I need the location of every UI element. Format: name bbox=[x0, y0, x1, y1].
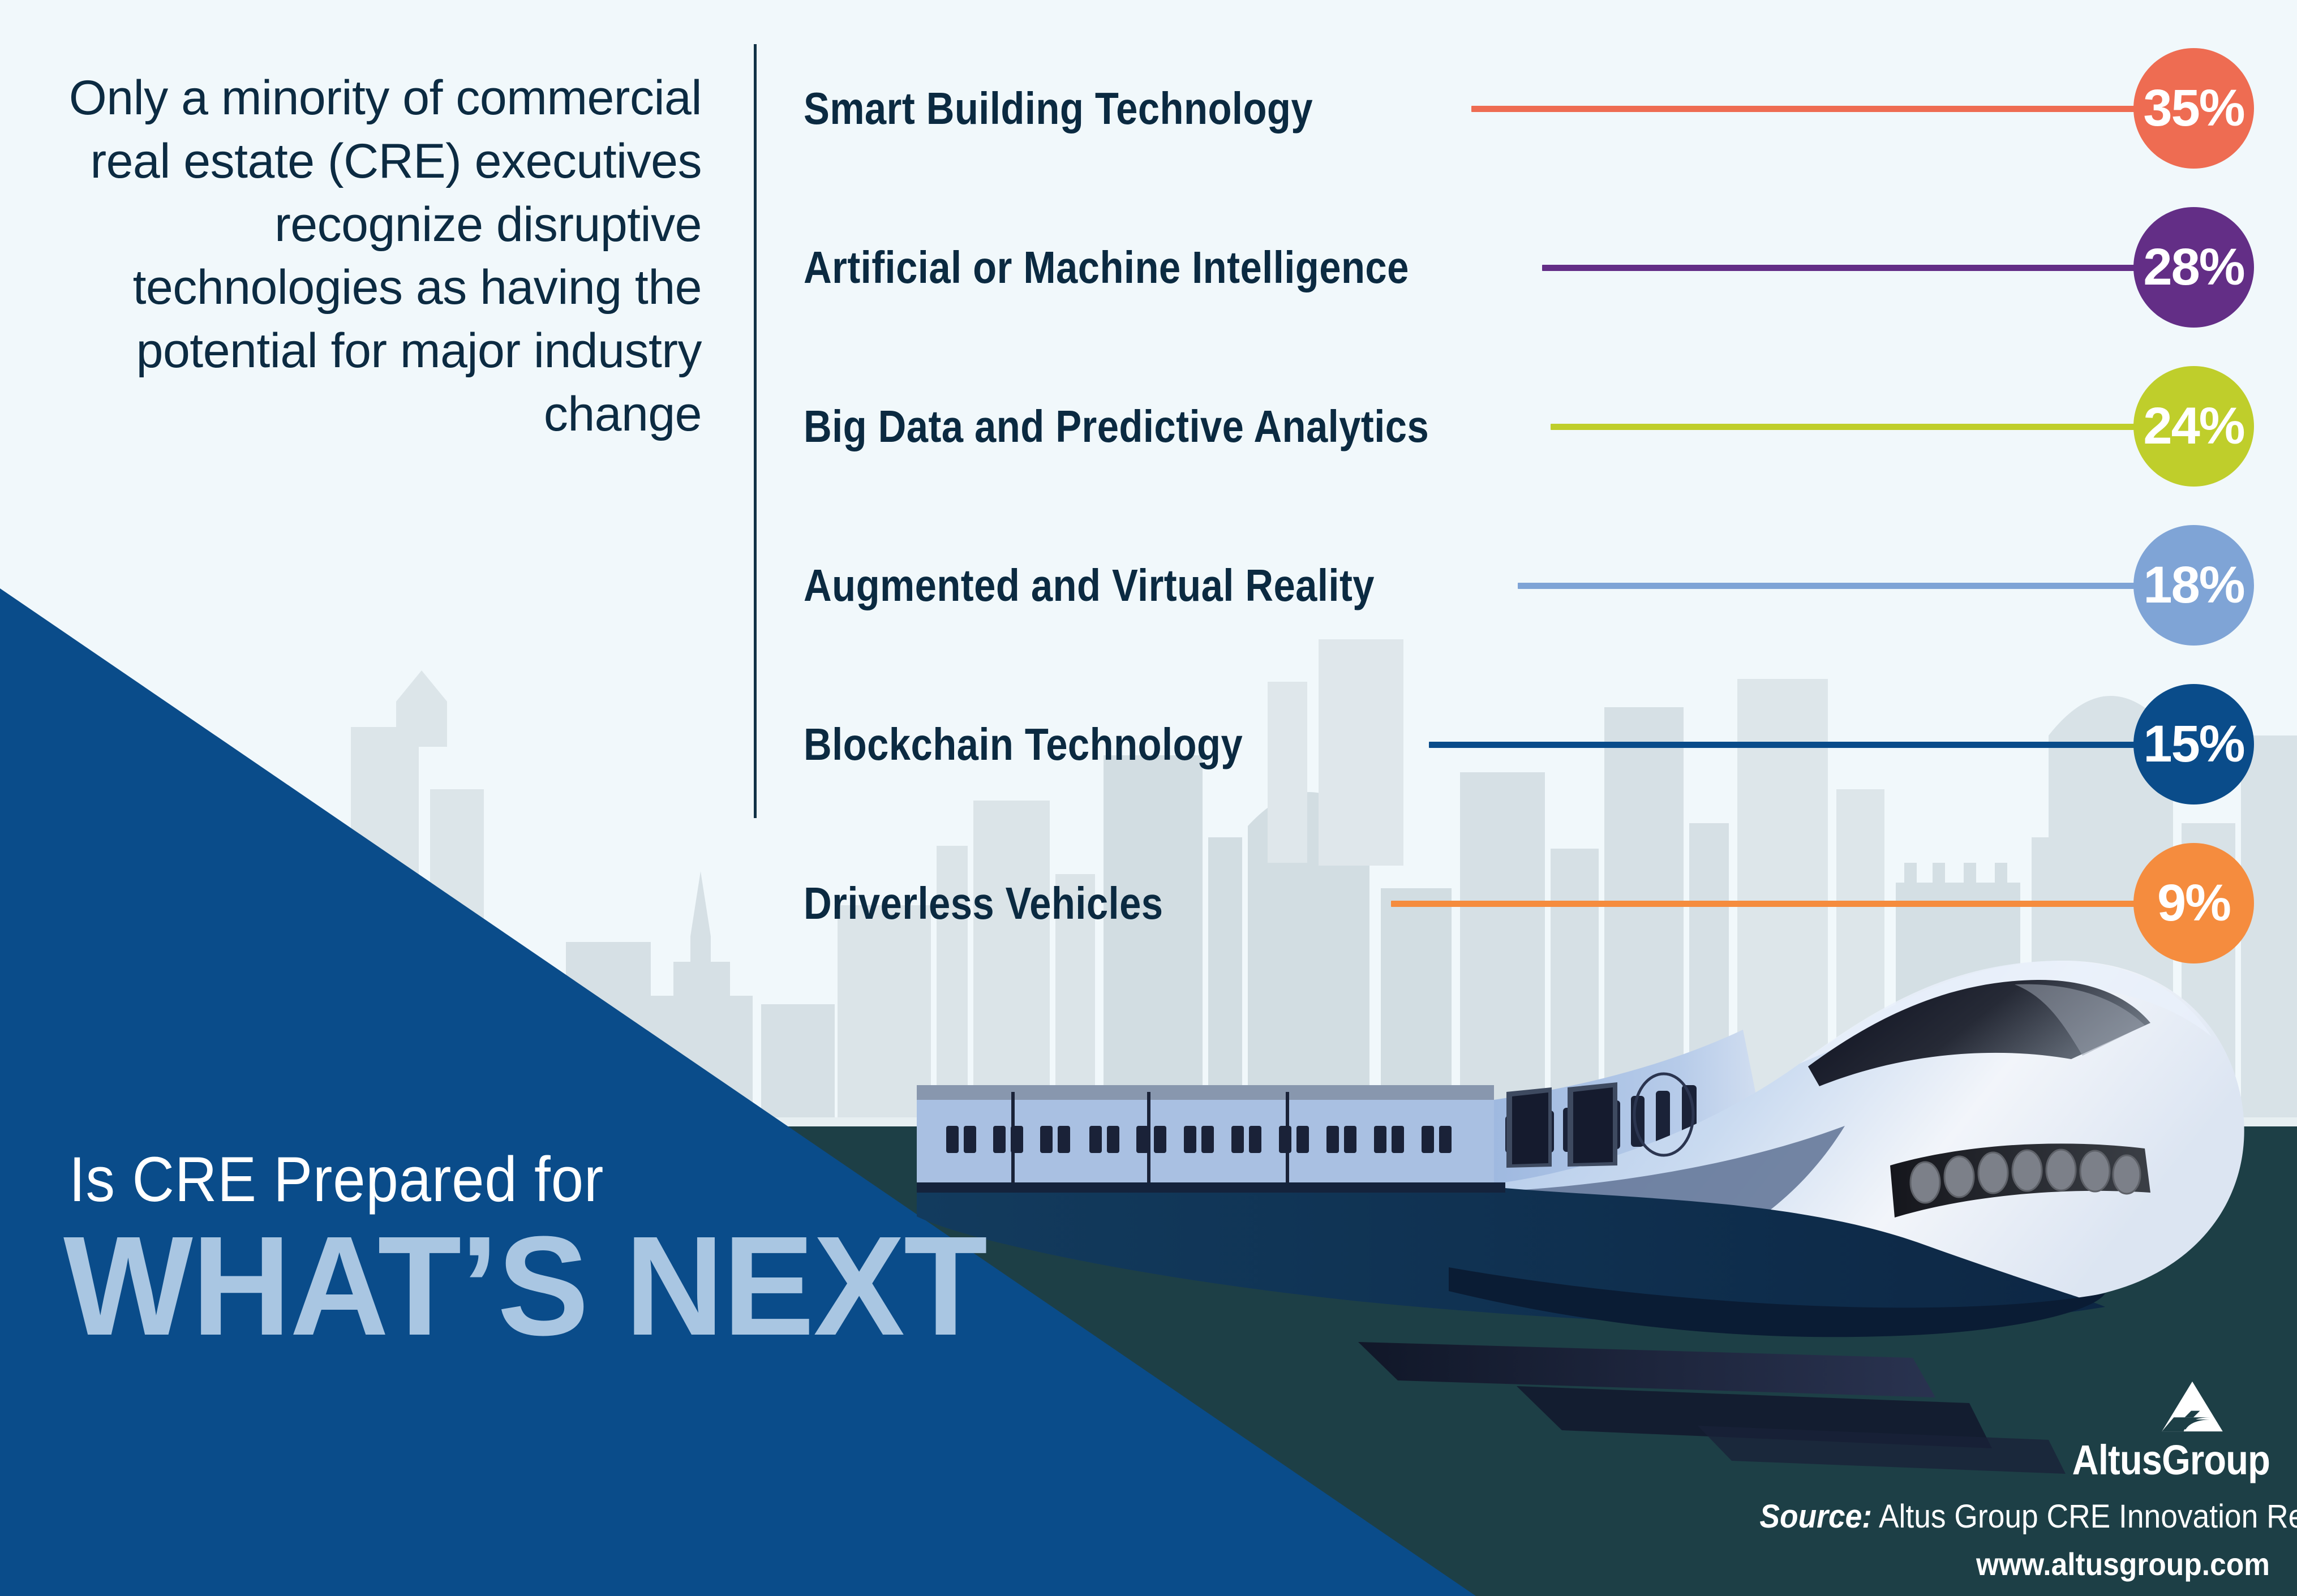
connector-line bbox=[1471, 106, 2201, 112]
source-text: Altus Group CRE Innovation Report bbox=[1879, 1498, 2297, 1535]
website-url[interactable]: www.altusgroup.com bbox=[1759, 1546, 2270, 1582]
status-badge: 28% bbox=[2133, 207, 2254, 328]
list-item[interactable]: Smart Building Technology 35% bbox=[804, 41, 2252, 177]
row-label: Driverless Vehicles bbox=[804, 877, 1163, 930]
status-badge: 18% bbox=[2133, 525, 2254, 646]
connector-line bbox=[1542, 265, 2201, 271]
connector-line bbox=[1429, 742, 2201, 748]
source-credit: Source: Altus Group CRE Innovation Repor… bbox=[1759, 1498, 2270, 1535]
status-badge: 9% bbox=[2133, 843, 2254, 963]
status-badge: 15% bbox=[2133, 684, 2254, 805]
percent-value: 18% bbox=[2143, 556, 2244, 615]
percent-value: 28% bbox=[2143, 238, 2244, 297]
percent-value: 15% bbox=[2143, 715, 2244, 774]
footer-branding: AltusGroup Source: Altus Group CRE Innov… bbox=[1715, 1379, 2270, 1582]
vertical-divider bbox=[754, 44, 757, 818]
technology-list: Smart Building Technology 35% Artificial… bbox=[804, 0, 2252, 883]
list-item[interactable]: Big Data and Predictive Analytics 24% bbox=[804, 359, 2252, 494]
connector-line bbox=[1518, 583, 2201, 589]
list-item[interactable]: Artificial or Machine Intelligence 28% bbox=[804, 200, 2252, 335]
row-label: Big Data and Predictive Analytics bbox=[804, 401, 1429, 453]
status-badge: 35% bbox=[2133, 48, 2254, 169]
connector-line bbox=[1551, 424, 2201, 430]
list-item[interactable]: Driverless Vehicles 9% bbox=[804, 836, 2252, 971]
row-label: Artificial or Machine Intelligence bbox=[804, 242, 1409, 294]
percent-value: 9% bbox=[2157, 874, 2230, 933]
headline-kicker: Is CRE Prepared for bbox=[69, 1143, 604, 1216]
row-label: Augmented and Virtual Reality bbox=[804, 560, 1375, 612]
page-title: WHAT’S NEXT bbox=[63, 1215, 986, 1357]
source-label: Source: bbox=[1759, 1498, 1872, 1535]
percent-value: 35% bbox=[2143, 79, 2244, 138]
list-item[interactable]: Augmented and Virtual Reality 18% bbox=[804, 518, 2252, 653]
connector-line bbox=[1391, 901, 2201, 907]
status-badge: 24% bbox=[2133, 366, 2254, 487]
percent-value: 24% bbox=[2143, 397, 2244, 456]
infographic-canvas: Only a minority of commercial real estat… bbox=[0, 0, 2297, 1596]
altus-triangle-logo-icon bbox=[2159, 1379, 2226, 1434]
list-item[interactable]: Blockchain Technology 15% bbox=[804, 677, 2252, 812]
row-label: Blockchain Technology bbox=[804, 719, 1243, 771]
brand-name: AltusGroup bbox=[1782, 1436, 2270, 1484]
intro-paragraph: Only a minority of commercial real estat… bbox=[68, 67, 702, 446]
row-label: Smart Building Technology bbox=[804, 83, 1313, 135]
